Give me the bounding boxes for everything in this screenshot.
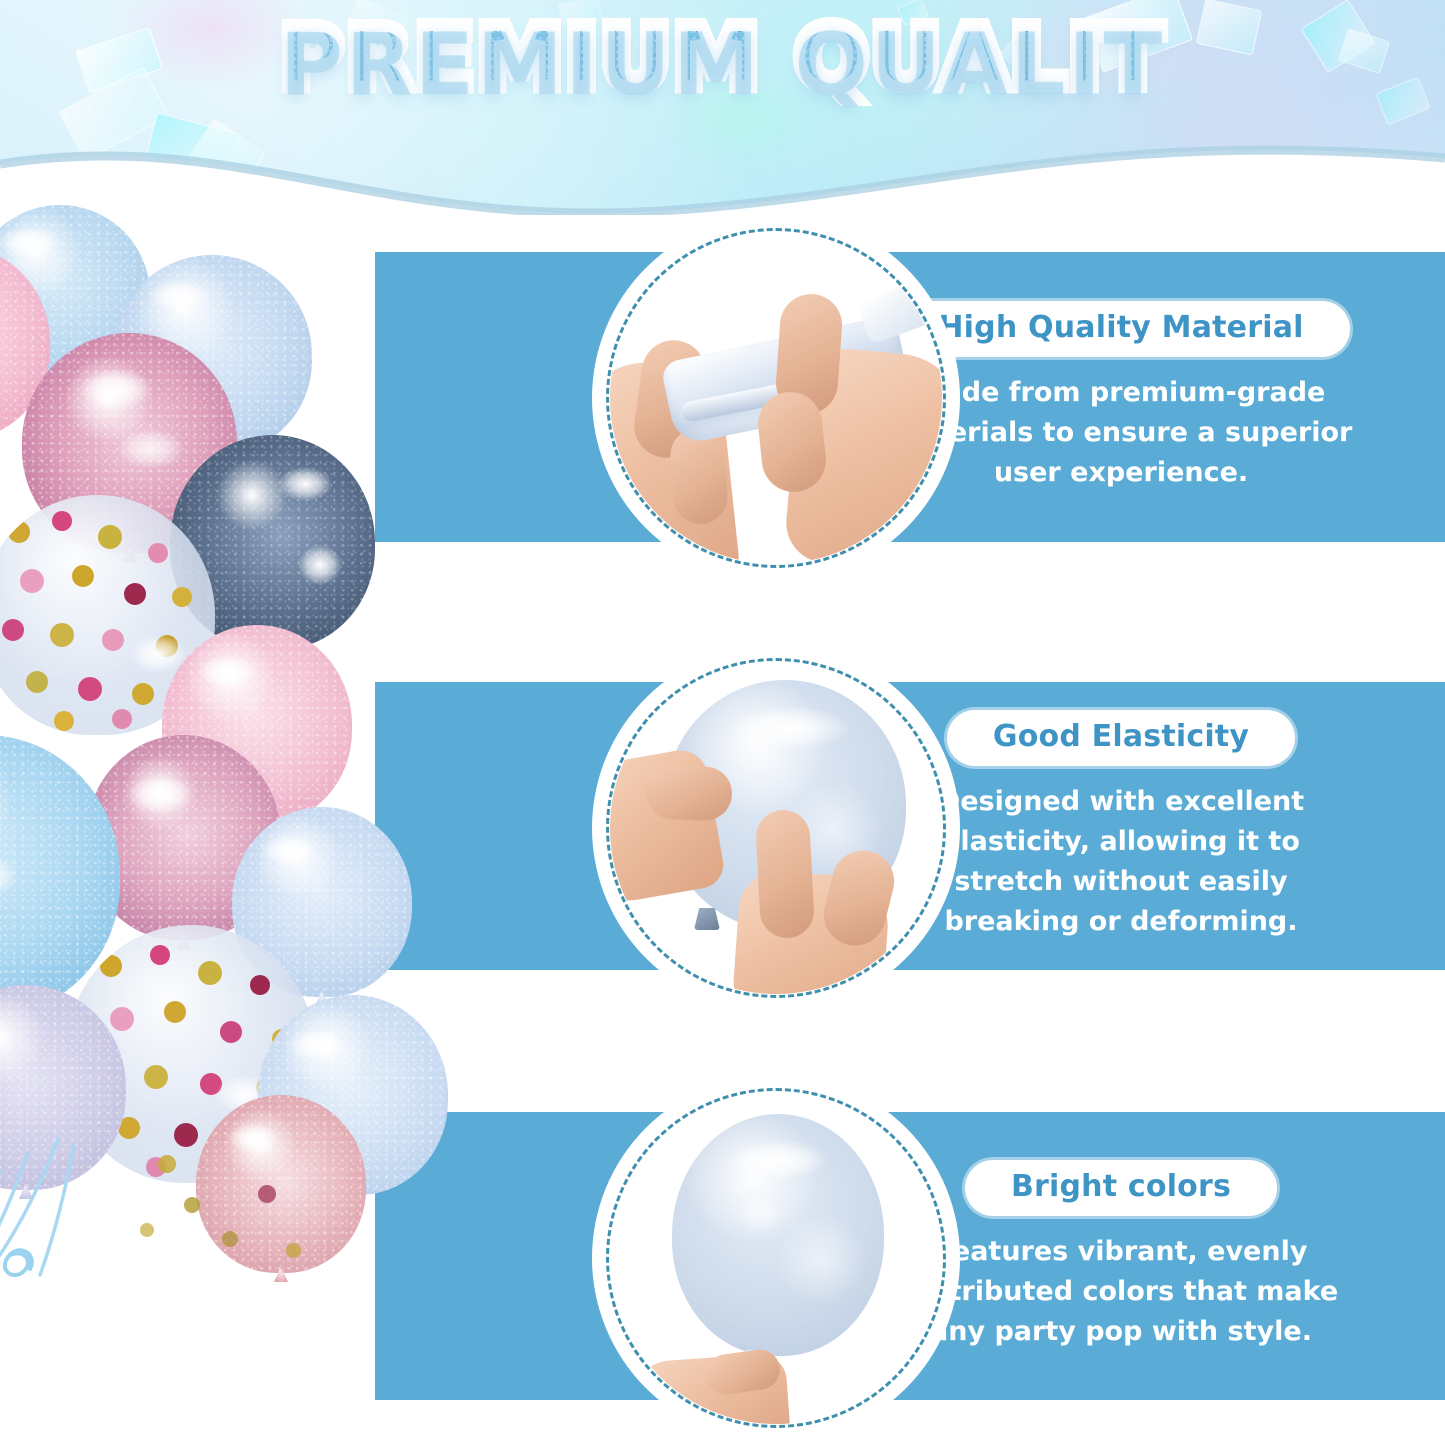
infographic-canvas: PREMIUM QUALIT High Quality Material Mad… — [0, 0, 1445, 1435]
balloon-highlight — [728, 1140, 828, 1180]
right-index-finger — [755, 809, 816, 940]
balloon-knot — [694, 908, 720, 930]
feature-photo-2 — [606, 658, 946, 998]
page-title: PREMIUM QUALIT — [0, 6, 1445, 110]
hands-squeezing-balloon-photo — [610, 662, 942, 994]
feature-heading-1: High Quality Material — [892, 301, 1349, 357]
feature-body-3: Features vibrant, evenly distributed col… — [886, 1232, 1356, 1352]
feature-heading-3: Bright colors — [965, 1160, 1277, 1216]
balloon-highlight-small — [736, 1196, 784, 1232]
feature-heading-2: Good Elasticity — [947, 710, 1295, 766]
loose-confetti — [286, 1243, 301, 1258]
feature-photo-1 — [606, 228, 946, 568]
hands-stretching-balloon-photo — [610, 232, 942, 564]
left-finger — [669, 426, 730, 526]
feature-body-1: Made from premium-grade materials to ens… — [886, 373, 1356, 493]
header-banner: PREMIUM QUALIT — [0, 0, 1445, 215]
balloon-neck-tip — [857, 279, 938, 344]
feature-photo-3 — [606, 1088, 946, 1428]
balloon-ribbons — [0, 1135, 280, 1435]
balloon-highlight — [730, 706, 850, 750]
balloon-bouquet-photo — [0, 195, 460, 1435]
feature-body-2: Designed with excellent elasticity, allo… — [886, 782, 1356, 942]
page-title-text: PREMIUM QUALIT — [280, 8, 1165, 108]
left-finger — [645, 765, 733, 822]
hand-holding-balloon-photo — [610, 1092, 942, 1424]
